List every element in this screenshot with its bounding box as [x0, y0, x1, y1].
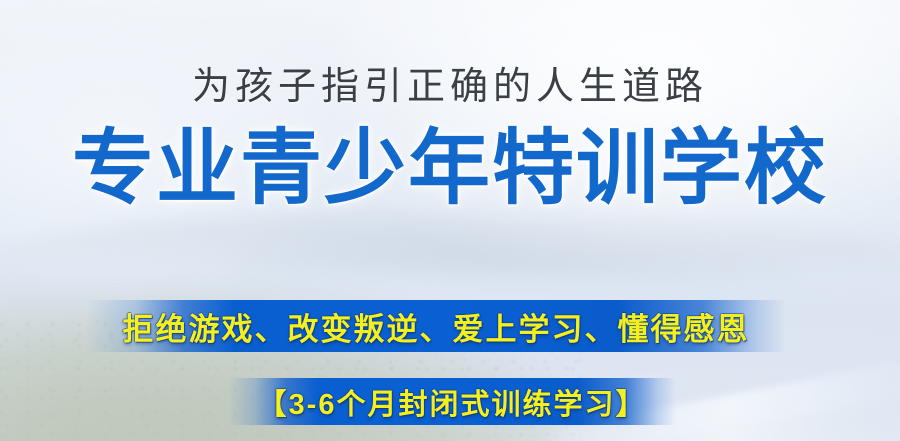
- ribbon-secondary-label: 【3-6个月封闭式训练学习】: [258, 381, 647, 423]
- banner-headline: 专业青少年特训学校: [0, 128, 900, 210]
- ribbon-primary-label: 拒绝游戏、改变叛逆、爱上学习、懂得感恩: [123, 304, 750, 349]
- promo-banner: 为孩子指引正确的人生道路 专业青少年特训学校 拒绝游戏、改变叛逆、爱上学习、懂得…: [0, 0, 900, 441]
- ribbon-secondary: 【3-6个月封闭式训练学习】: [228, 378, 676, 425]
- banner-content: 为孩子指引正确的人生道路 专业青少年特训学校 拒绝游戏、改变叛逆、爱上学习、懂得…: [0, 0, 900, 441]
- banner-tagline: 为孩子指引正确的人生道路: [0, 68, 900, 106]
- ribbon-primary: 拒绝游戏、改变叛逆、爱上学习、懂得感恩: [86, 300, 786, 352]
